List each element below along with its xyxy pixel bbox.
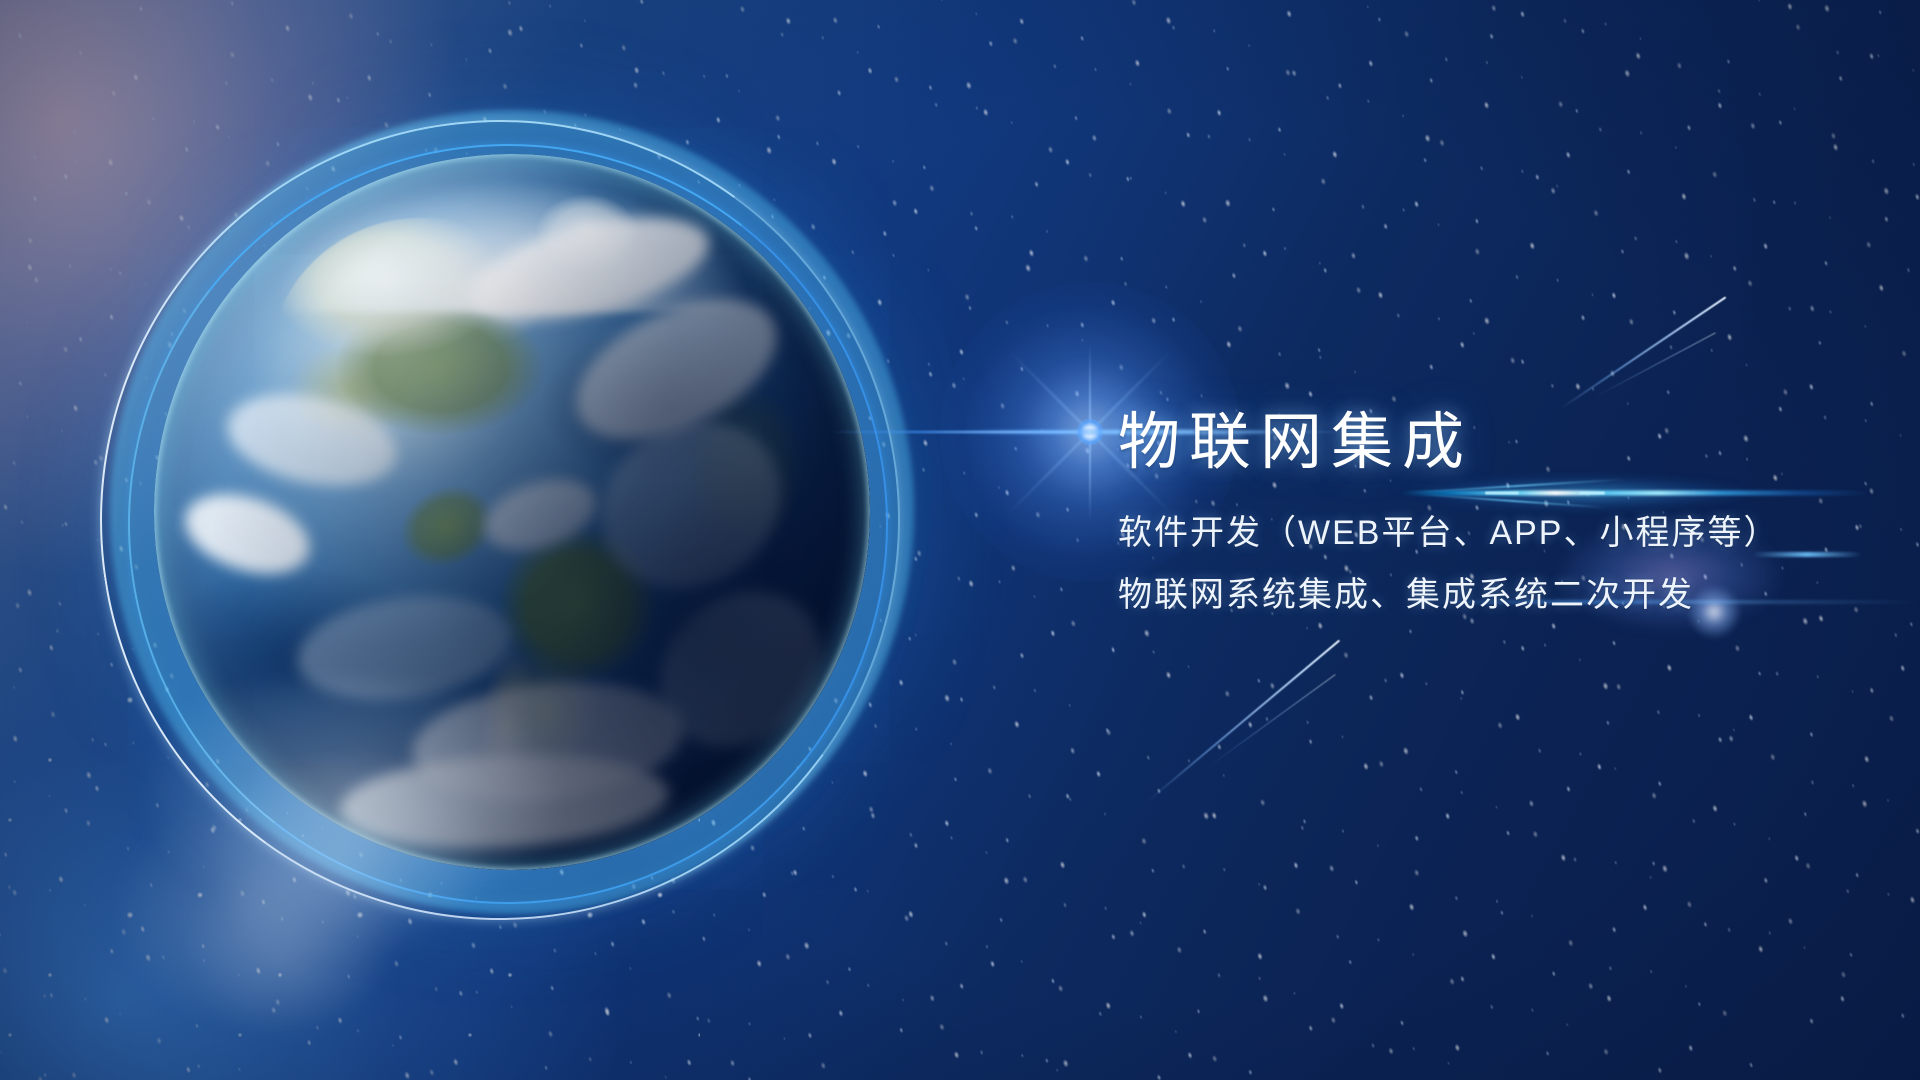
hero-text-block: 物联网集成 软件开发（WEB平台、APP、小程序等） 物联网系统集成、集成系统二…	[1118, 412, 1779, 612]
subtitle-line-2: 物联网系统集成、集成系统二次开发	[1118, 578, 1779, 612]
subtitle-line-1: 软件开发（WEB平台、APP、小程序等）	[1118, 516, 1779, 550]
hero-banner: 物联网集成 软件开发（WEB平台、APP、小程序等） 物联网系统集成、集成系统二…	[0, 0, 1920, 1080]
page-title: 物联网集成	[1118, 412, 1779, 474]
